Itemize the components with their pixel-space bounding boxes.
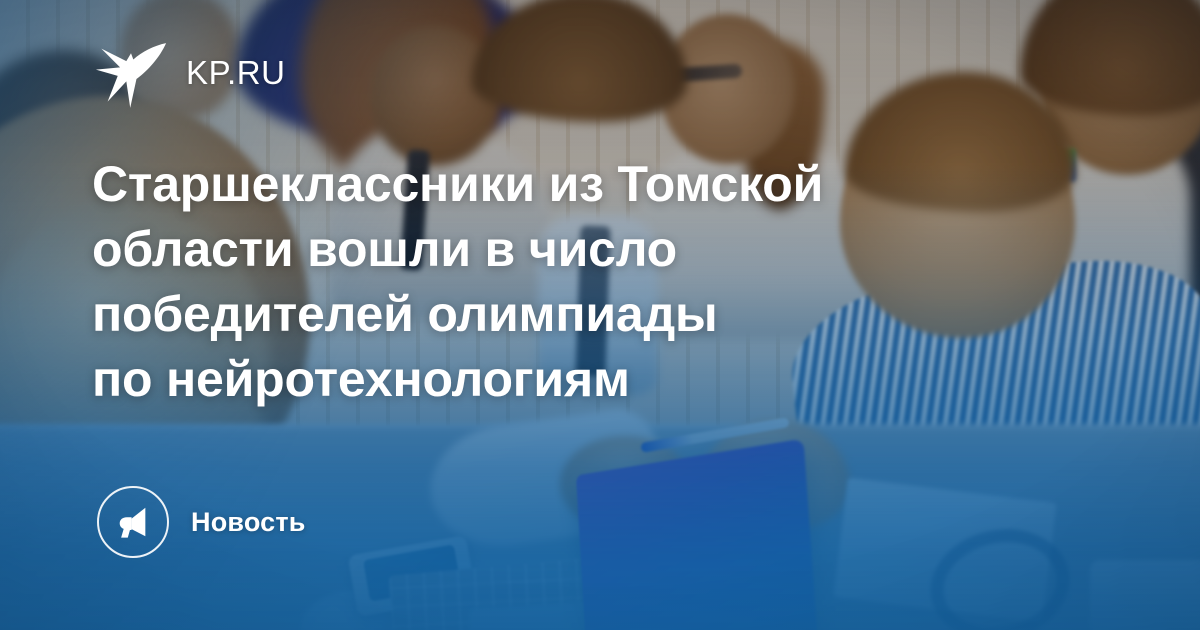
badge-label: Новость bbox=[191, 507, 306, 538]
headline-line-2: области вошли в число bbox=[92, 217, 1102, 282]
kp-swallow-bird-icon bbox=[92, 33, 170, 111]
headline-line-4: по нейротехнологиям bbox=[92, 347, 1102, 412]
megaphone-icon bbox=[114, 503, 152, 541]
content-type-badge[interactable]: Новость bbox=[97, 486, 306, 558]
badge-icon-circle bbox=[97, 486, 169, 558]
headline: Старшеклассники из Томской области вошли… bbox=[92, 152, 1102, 412]
card-content: KP.RU Старшеклассники из Томской области… bbox=[0, 0, 1200, 630]
brand-logo[interactable]: KP.RU bbox=[92, 33, 286, 111]
headline-line-1: Старшеклассники из Томской bbox=[92, 152, 1102, 217]
brand-wordmark: KP.RU bbox=[186, 56, 286, 89]
news-share-card: KP.RU Старшеклассники из Томской области… bbox=[0, 0, 1200, 630]
headline-line-3: победителей олимпиады bbox=[92, 282, 1102, 347]
